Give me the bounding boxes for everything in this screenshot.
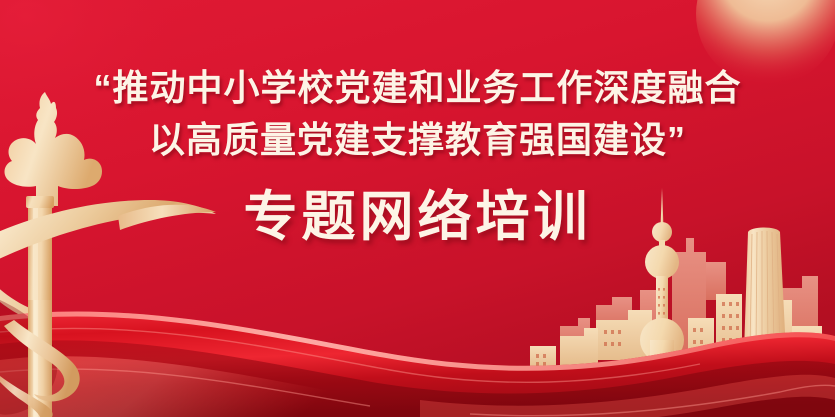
training-banner: “推动中小学校党建和业务工作深度融合 以高质量党建支撑教育强国建设” 专题网络培… (0, 0, 835, 417)
subtitle-ribbon-pointer-layer (0, 0, 835, 417)
subtitle-ribbon-pointer-icon (118, 205, 216, 230)
